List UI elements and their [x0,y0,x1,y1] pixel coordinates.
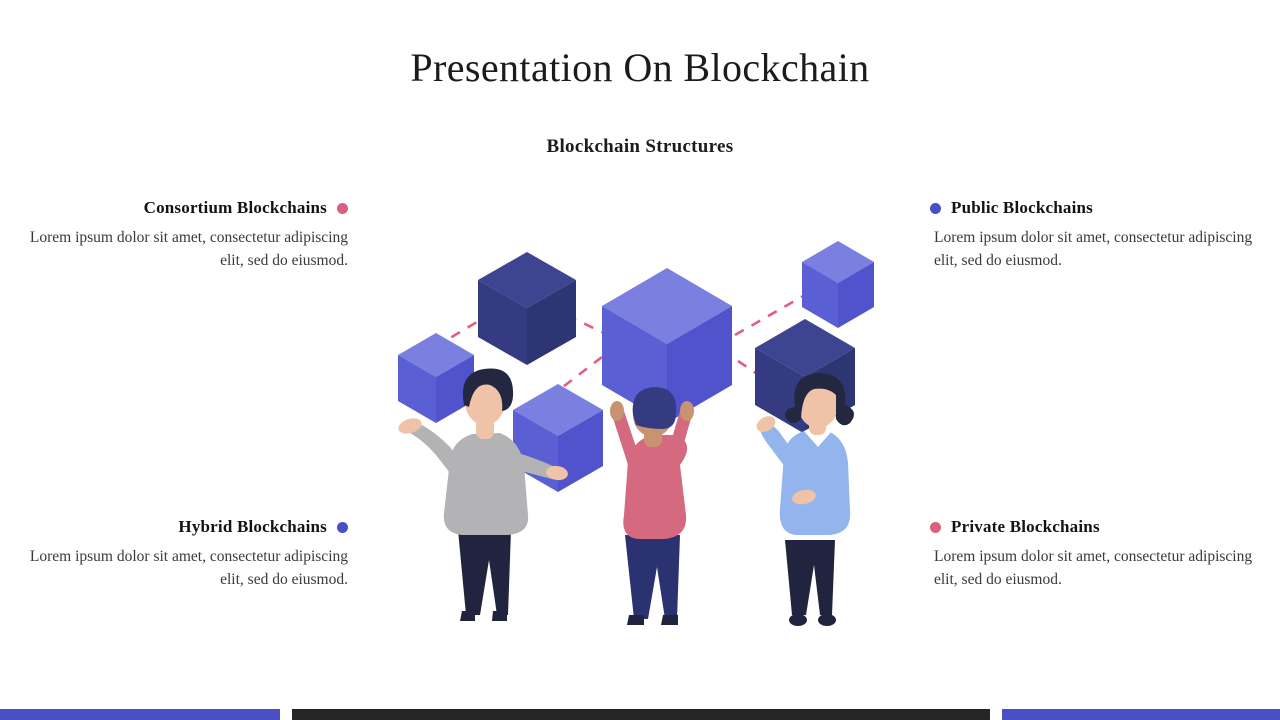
footer-bar-left [0,709,280,720]
label-body-public: Lorem ipsum dolor sit amet, consectetur … [930,227,1270,273]
label-block-hybrid[interactable]: Hybrid Blockchains Lorem ipsum dolor sit… [8,517,348,592]
label-body-private: Lorem ipsum dolor sit amet, consectetur … [930,546,1270,592]
label-body-consortium: Lorem ipsum dolor sit amet, consectetur … [8,227,348,273]
cube-far-left-small [398,333,474,423]
label-block-public[interactable]: Public Blockchains Lorem ipsum dolor sit… [930,198,1270,273]
label-block-private[interactable]: Private Blockchains Lorem ipsum dolor si… [930,517,1270,592]
label-heading-private: Private Blockchains [930,517,1270,537]
page-title: Presentation On Blockchain [0,46,1280,90]
label-title-private: Private Blockchains [951,517,1100,537]
label-heading-consortium: Consortium Blockchains [8,198,348,218]
label-title-hybrid: Hybrid Blockchains [178,517,327,537]
slide-canvas: Presentation On Blockchain Blockchain St… [0,0,1280,720]
footer-bar-right [1002,709,1280,720]
cube-upper-right [802,241,874,328]
footer-bar-center [292,709,990,720]
label-body-hybrid: Lorem ipsum dolor sit amet, consectetur … [8,546,348,592]
bullet-dot-icon [930,203,941,214]
bullet-dot-icon [337,203,348,214]
blockchain-illustration [380,215,900,635]
bullet-dot-icon [930,522,941,533]
person-center [610,387,694,625]
label-title-public: Public Blockchains [951,198,1093,218]
label-heading-public: Public Blockchains [930,198,1270,218]
label-heading-hybrid: Hybrid Blockchains [8,517,348,537]
bullet-dot-icon [337,522,348,533]
page-subtitle: Blockchain Structures [0,136,1280,158]
cube-upper-left [478,252,576,365]
label-title-consortium: Consortium Blockchains [144,198,327,218]
label-block-consortium[interactable]: Consortium Blockchains Lorem ipsum dolor… [8,198,348,273]
